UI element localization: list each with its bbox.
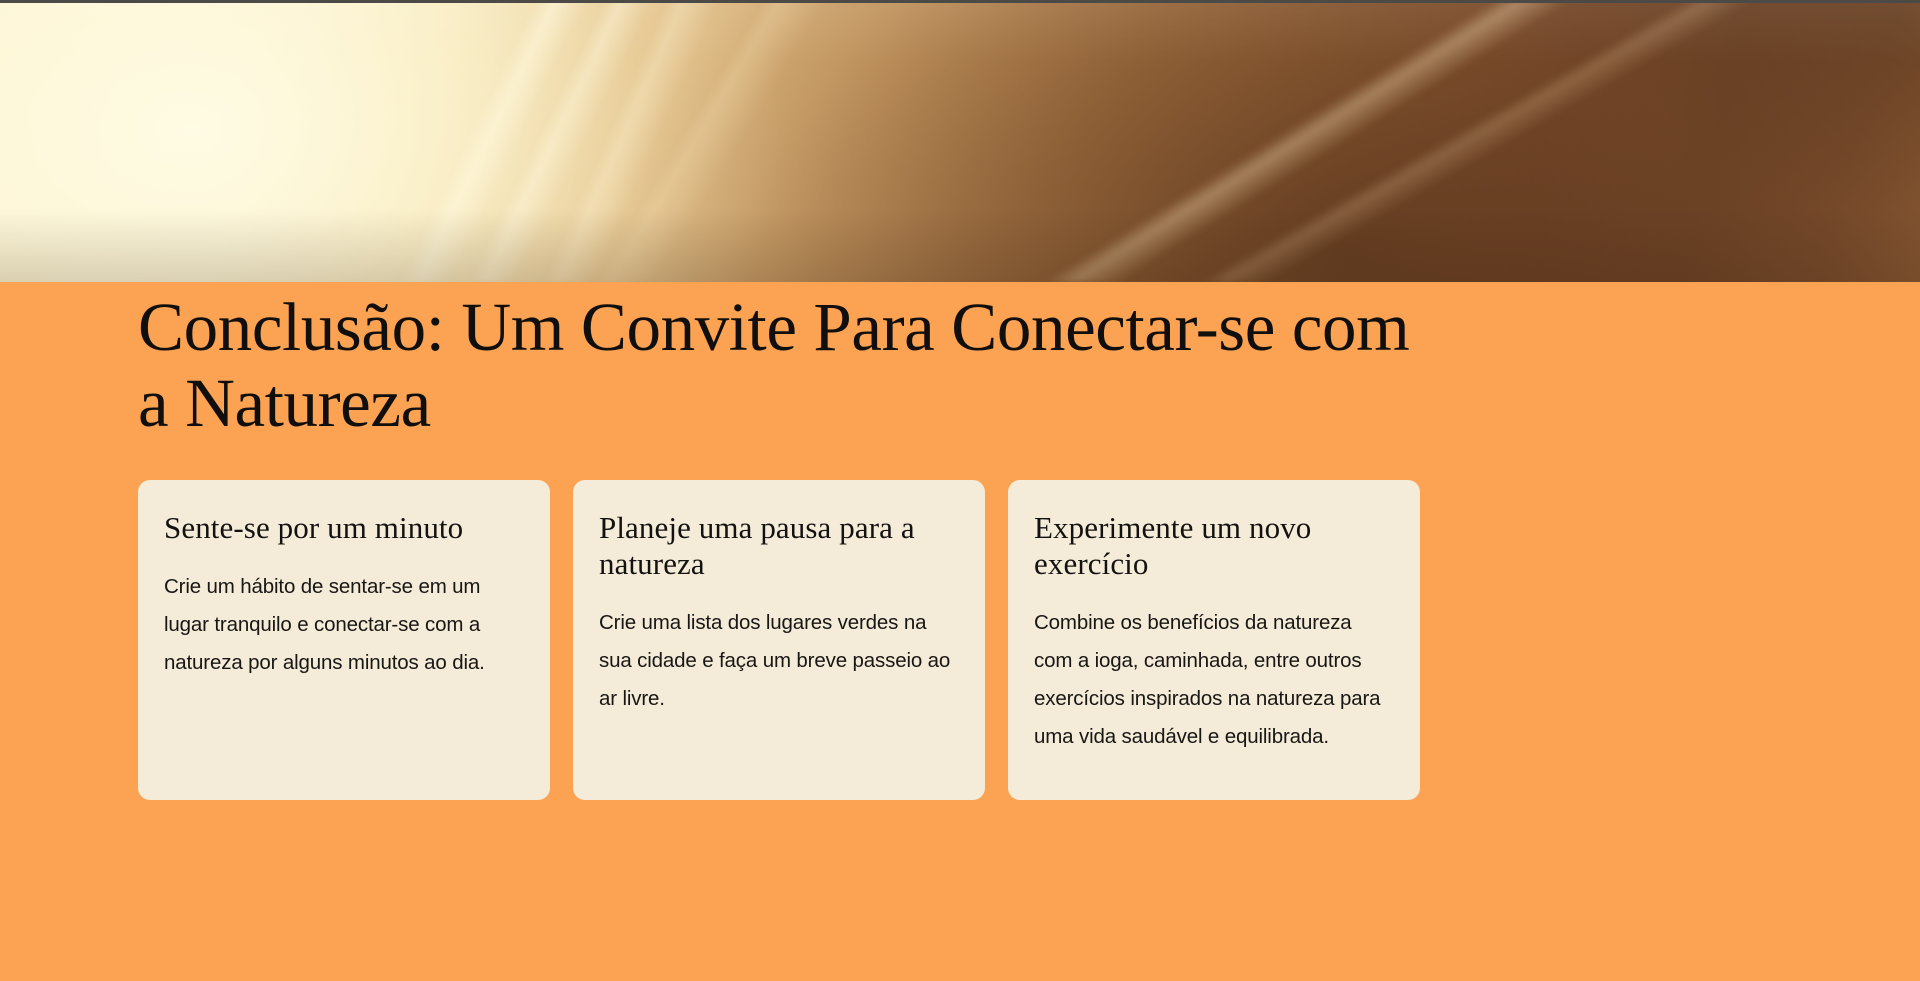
conclusion-section: Conclusão: Um Convite Para Conectar-se c… (0, 282, 1920, 981)
tips-card-grid: Sente-se por um minuto Crie um hábito de… (138, 480, 1782, 800)
hero-banner-image (0, 0, 1920, 282)
hero-top-border (0, 0, 1920, 3)
page-root: Conclusão: Um Convite Para Conectar-se c… (0, 0, 1920, 981)
tip-card: Sente-se por um minuto Crie um hábito de… (138, 480, 550, 800)
tip-card-body: Combine os benefícios da natureza com a … (1034, 604, 1394, 756)
tip-card-title: Planeje uma pausa para a natureza (599, 510, 959, 583)
page-title: Conclusão: Um Convite Para Conectar-se c… (138, 282, 1438, 442)
tip-card-body: Crie uma lista dos lugares verdes na sua… (599, 604, 959, 718)
tip-card-title: Sente-se por um minuto (164, 510, 524, 546)
hero-vignette-overlay (0, 0, 1920, 282)
tip-card-title: Experimente um novo exercício (1034, 510, 1394, 583)
tip-card-body: Crie um hábito de sentar-se em um lugar … (164, 568, 524, 682)
tip-card: Planeje uma pausa para a natureza Crie u… (573, 480, 985, 800)
tip-card: Experimente um novo exercício Combine os… (1008, 480, 1420, 800)
